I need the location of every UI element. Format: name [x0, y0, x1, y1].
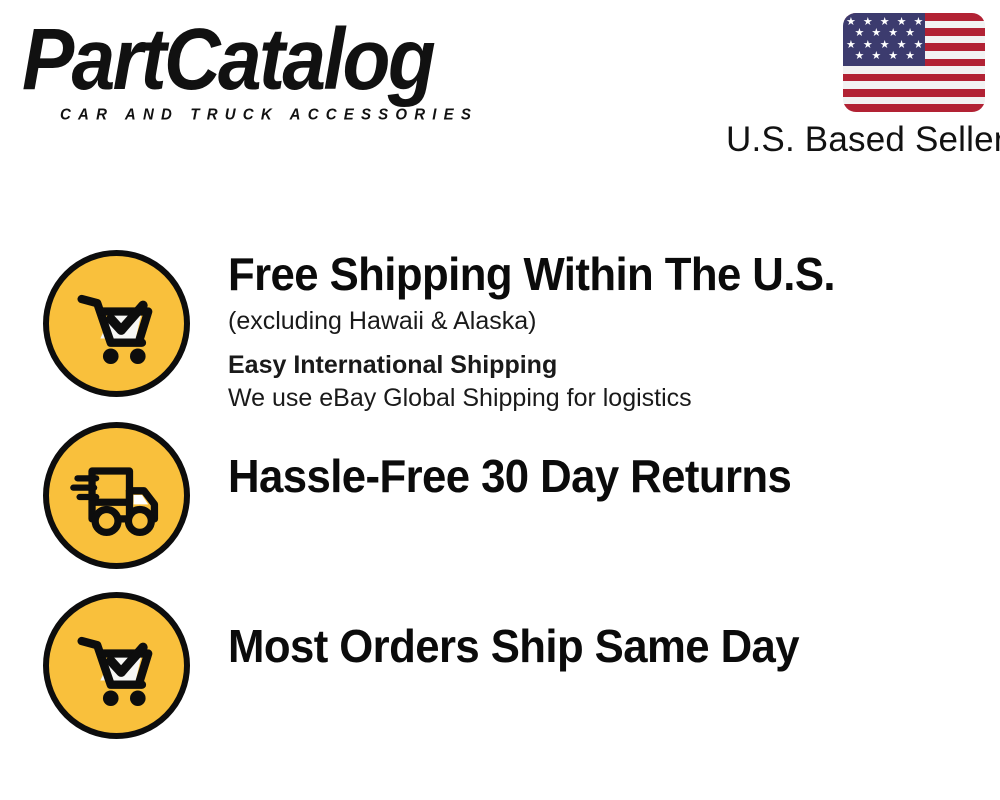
star-icon: ★ — [854, 51, 864, 62]
flag-star-row: ★ ★ ★ ★ — [846, 28, 923, 39]
benefit-title: Free Shipping Within The U.S. — [228, 250, 961, 298]
brand-tagline: CAR AND TRUCK ACCESSORIES — [60, 106, 478, 124]
seller-info-banner: PartCatalog CAR AND TRUCK ACCESSORIES ★ … — [0, 0, 1000, 800]
star-icon: ★ — [905, 28, 915, 39]
benefit-text-block: Free Shipping Within The U.S. (excluding… — [190, 250, 1000, 414]
seller-location-label: U.S. Based Seller — [726, 120, 986, 160]
benefit-row: Most Orders Ship Same Day — [0, 592, 1000, 739]
shopping-cart-check-icon — [43, 250, 190, 397]
star-icon: ★ — [854, 28, 864, 39]
us-flag-icon: ★ ★ ★ ★ ★ ★ ★ ★ ★ ★ ★ ★ ★ ★ ★ ★ — [843, 13, 985, 112]
brand-logo: PartCatalog CAR AND TRUCK ACCESSORIES — [22, 22, 492, 114]
benefit-subtext: We use eBay Global Shipping for logistic… — [228, 382, 1000, 414]
star-icon: ★ — [888, 51, 898, 62]
star-icon: ★ — [871, 28, 881, 39]
benefit-title: Most Orders Ship Same Day — [228, 622, 961, 670]
star-icon: ★ — [871, 51, 881, 62]
delivery-truck-icon — [43, 422, 190, 569]
benefit-text-block: Most Orders Ship Same Day — [190, 592, 1000, 670]
flag-star-row: ★ ★ ★ ★ — [846, 51, 923, 62]
star-icon: ★ — [905, 51, 915, 62]
benefit-subtext: (excluding Hawaii & Alaska) — [228, 305, 1000, 337]
star-icon: ★ — [888, 28, 898, 39]
flag-canton: ★ ★ ★ ★ ★ ★ ★ ★ ★ ★ ★ ★ ★ ★ ★ ★ — [843, 13, 925, 66]
benefit-row: Free Shipping Within The U.S. (excluding… — [0, 250, 1000, 414]
shopping-cart-check-icon — [43, 592, 190, 739]
brand-wordmark: PartCatalog — [22, 16, 433, 103]
benefit-title: Hassle-Free 30 Day Returns — [228, 452, 961, 500]
benefit-row: Hassle-Free 30 Day Returns — [0, 422, 1000, 569]
benefit-text-block: Hassle-Free 30 Day Returns — [190, 422, 1000, 500]
benefit-subtext-bold: Easy International Shipping — [228, 349, 1000, 381]
